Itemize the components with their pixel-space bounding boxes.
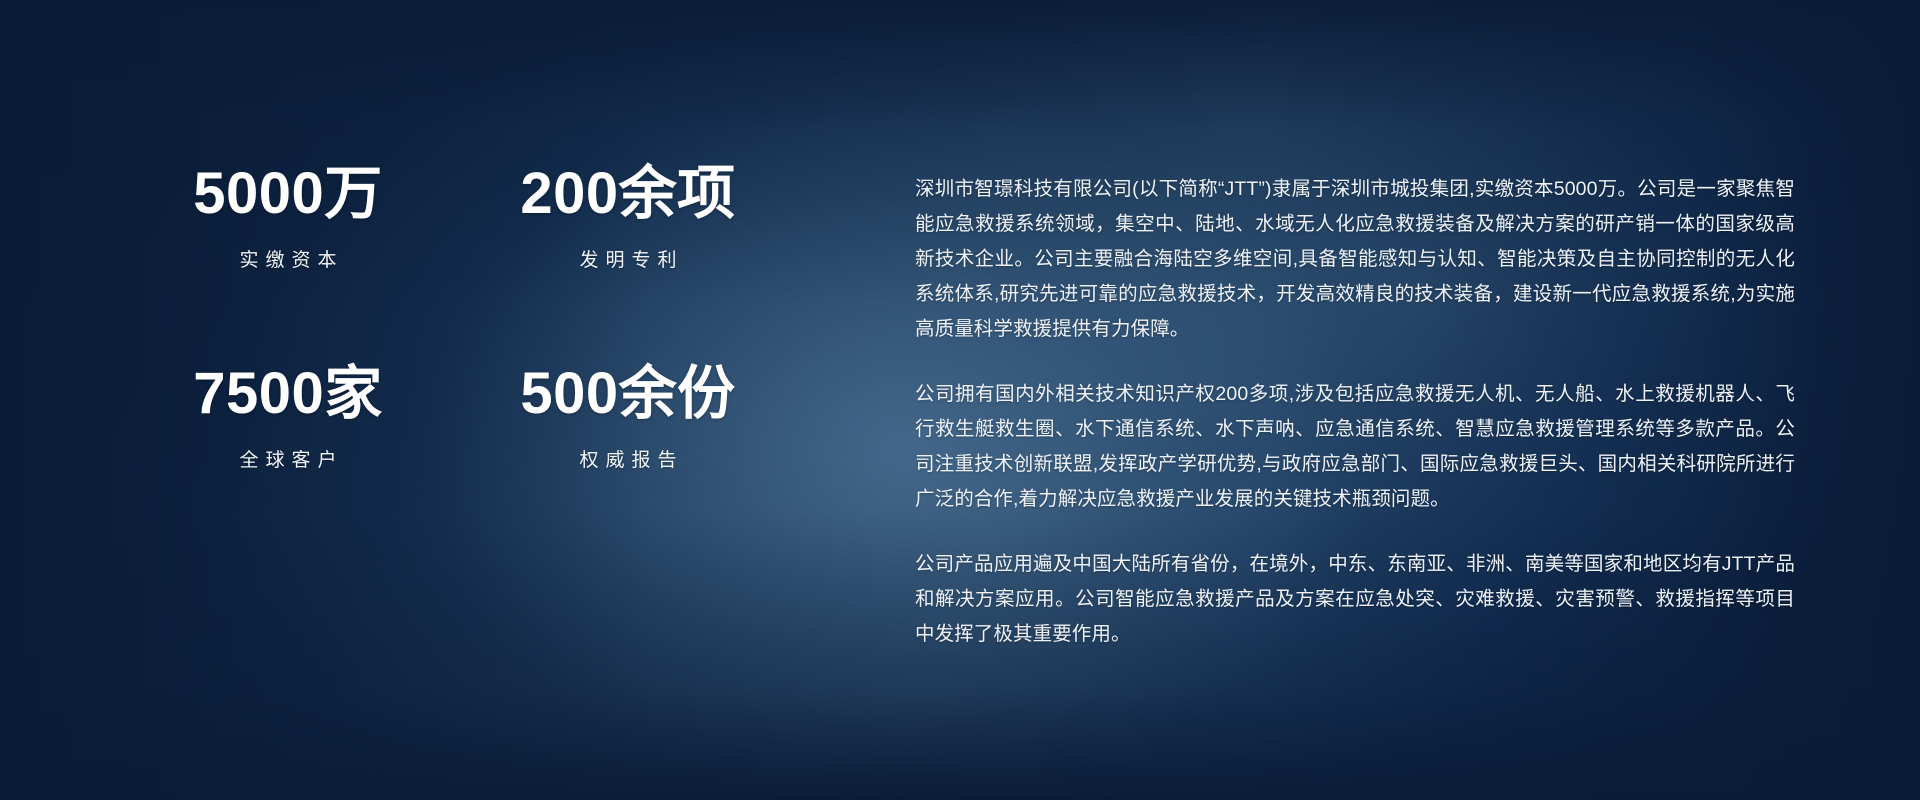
stat-label: 实缴资本: [128, 245, 448, 272]
stat-value: 5000万: [128, 164, 448, 225]
stat-card-global-clients: 7500家 全球客户: [128, 360, 448, 560]
stat-card-paid-in-capital: 5000万 实缴资本: [128, 160, 448, 360]
stat-card-authoritative-reports: 500余份 权威报告: [468, 360, 788, 560]
stat-label: 发明专利: [468, 245, 788, 272]
stat-label: 全球客户: [128, 445, 448, 472]
stat-label: 权威报告: [468, 445, 788, 472]
description-paragraph-2: 公司拥有国内外相关技术知识产权200多项,涉及包括应急救援无人机、无人船、水上救…: [915, 377, 1795, 517]
description-paragraph-3: 公司产品应用遍及中国大陆所有省份，在境外，中东、东南亚、非洲、南美等国家和地区均…: [915, 547, 1795, 652]
statistics-grid: 5000万 实缴资本 200余项 发明专利 7500家 全球客户 500余份 权…: [128, 160, 788, 560]
stat-value: 200余项: [468, 164, 788, 225]
slide-content: 5000万 实缴资本 200余项 发明专利 7500家 全球客户 500余份 权…: [0, 0, 1920, 800]
stat-value: 7500家: [128, 364, 448, 425]
company-description: 深圳市智璟科技有限公司(以下简称“JTT”)隶属于深圳市城投集团,实缴资本500…: [915, 172, 1795, 652]
stat-value: 500余份: [468, 364, 788, 425]
stat-card-invention-patents: 200余项 发明专利: [468, 160, 788, 360]
description-paragraph-1: 深圳市智璟科技有限公司(以下简称“JTT”)隶属于深圳市城投集团,实缴资本500…: [915, 172, 1795, 347]
company-profile-slide: 5000万 实缴资本 200余项 发明专利 7500家 全球客户 500余份 权…: [0, 0, 1920, 800]
